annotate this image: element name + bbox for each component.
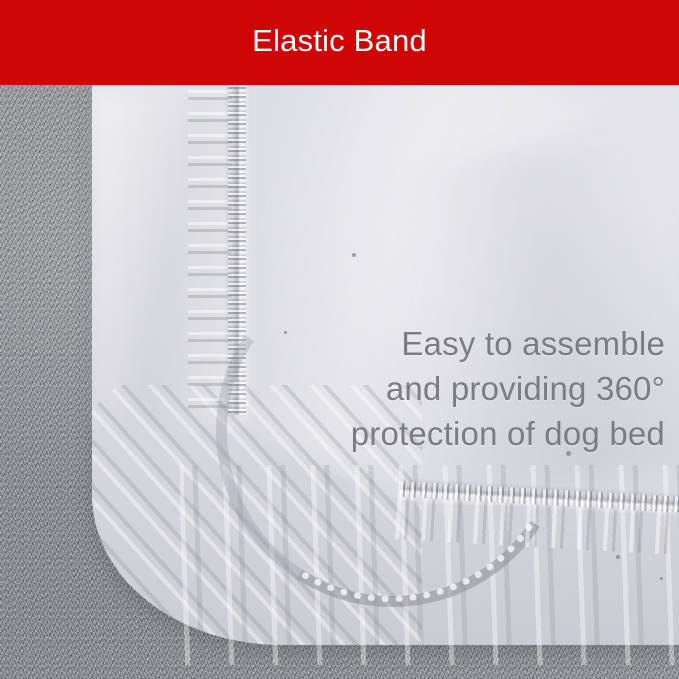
header-banner: Elastic Band: [0, 0, 679, 85]
lint-speck: [616, 555, 620, 559]
caption-line-3: protection of dog bed: [245, 411, 665, 456]
lint-speck: [660, 577, 663, 580]
product-photo: Easy to assemble and providing 360° prot…: [0, 85, 679, 679]
caption-line-2: and providing 360°: [245, 366, 665, 411]
screenshot-root: Elastic Band Easy to assemble and provid…: [0, 0, 679, 679]
lint-speck: [352, 253, 356, 257]
banner-title: Elastic Band: [0, 0, 679, 85]
caption-text: Easy to assemble and providing 360° prot…: [245, 321, 665, 456]
caption-line-1: Easy to assemble: [245, 321, 665, 366]
